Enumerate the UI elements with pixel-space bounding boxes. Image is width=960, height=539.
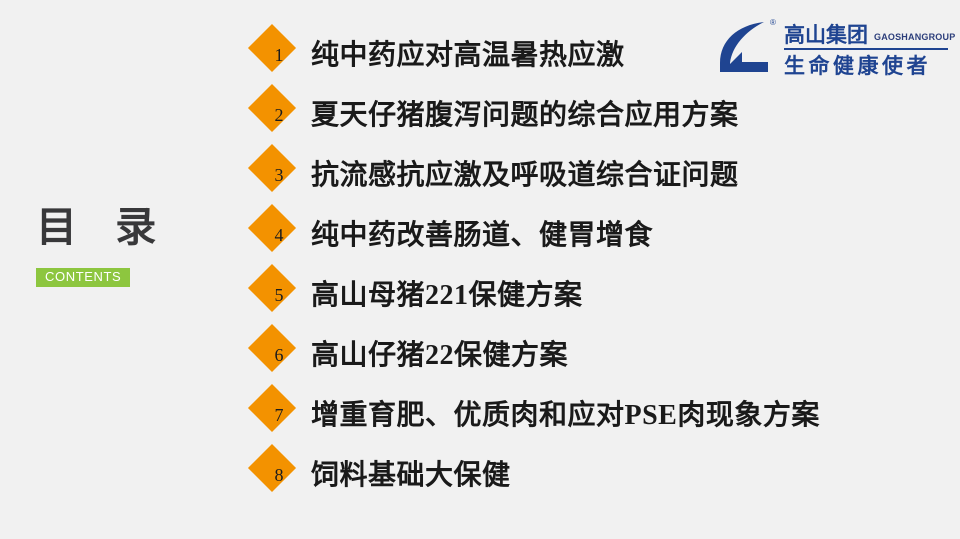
list-item-number: 5: [255, 271, 303, 319]
list-item-label: 夏天仔猪腹泻问题的综合应用方案: [311, 92, 739, 140]
logo-text-block: 高山集团 GAOSHANGROUP 生命健康使者: [784, 20, 948, 78]
gaoshan-swoosh-icon: [716, 18, 778, 80]
list-item[interactable]: 4 纯中药改善肠道、健胃增食: [255, 206, 955, 266]
list-item-label: 高山仔猪22保健方案: [311, 332, 568, 380]
list-item-number: 2: [255, 91, 303, 139]
logo-company-name-en: GAOSHANGROUP: [874, 31, 955, 46]
logo-slogan: 生命健康使者: [784, 54, 948, 78]
list-item-number: 3: [255, 151, 303, 199]
company-logo: ® 高山集团 GAOSHANGROUP 生命健康使者: [716, 16, 948, 86]
list-item-number: 1: [255, 31, 303, 79]
list-item[interactable]: 6 高山仔猪22保健方案: [255, 326, 955, 386]
list-item-number: 4: [255, 211, 303, 259]
list-item-label: 饲料基础大保健: [311, 452, 511, 500]
list-item[interactable]: 2 夏天仔猪腹泻问题的综合应用方案: [255, 86, 955, 146]
list-item-label: 高山母猪221保健方案: [311, 272, 583, 320]
list-item[interactable]: 8 饲料基础大保健: [255, 446, 955, 506]
logo-divider: [784, 48, 948, 50]
page-title: 目 录: [36, 206, 236, 249]
list-item-number: 6: [255, 331, 303, 379]
registered-mark: ®: [770, 18, 776, 27]
list-item-label: 增重育肥、优质肉和应对PSE肉现象方案: [311, 392, 820, 440]
list-item[interactable]: 5 高山母猪221保健方案: [255, 266, 955, 326]
list-item-label: 纯中药应对高温暑热应激: [311, 32, 625, 80]
contents-badge: CONTENTS: [36, 268, 130, 287]
slide-canvas: 目 录 CONTENTS 1 纯中药应对高温暑热应激 2 夏天仔猪腹泻问题的综合…: [0, 0, 960, 539]
table-of-contents: 1 纯中药应对高温暑热应激 2 夏天仔猪腹泻问题的综合应用方案 3 抗流感抗应激…: [255, 26, 955, 506]
list-item-number: 7: [255, 391, 303, 439]
list-item[interactable]: 3 抗流感抗应激及呼吸道综合证问题: [255, 146, 955, 206]
list-item-number: 8: [255, 451, 303, 499]
logo-company-name: 高山集团: [784, 24, 868, 46]
list-item-label: 抗流感抗应激及呼吸道综合证问题: [311, 152, 739, 200]
list-item-label: 纯中药改善肠道、健胃增食: [311, 212, 653, 260]
section-title-block: 目 录 CONTENTS: [36, 206, 236, 287]
list-item[interactable]: 7 增重育肥、优质肉和应对PSE肉现象方案: [255, 386, 955, 446]
